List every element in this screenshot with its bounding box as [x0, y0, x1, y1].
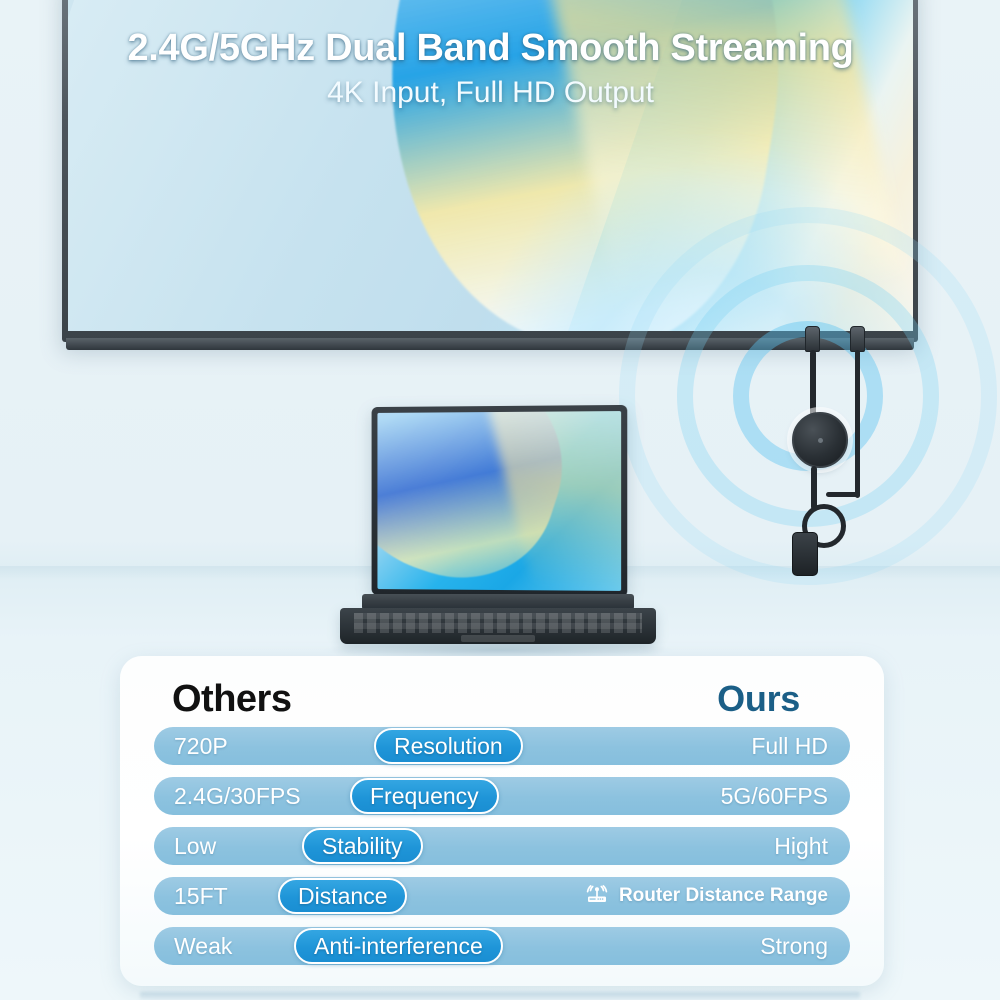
feature-label: Resolution	[394, 733, 503, 760]
feature-pill[interactable]: Distance	[278, 878, 407, 914]
others-value: 2.4G/30FPS	[154, 783, 301, 810]
feature-pill[interactable]: Frequency	[350, 778, 499, 814]
feature-label: Frequency	[370, 783, 479, 810]
ours-value-label: Hight	[774, 833, 828, 860]
others-value: Weak	[154, 933, 232, 960]
tablet-keyboard	[340, 608, 656, 644]
tv-text-block: 2.4G/5GHz Dual Band Smooth Streaming 4K …	[68, 27, 913, 110]
feature-label: Stability	[322, 833, 403, 860]
ours-value: 5G/60FPS	[721, 783, 850, 810]
ours-value: Hight	[774, 833, 850, 860]
column-header-ours: Ours	[717, 678, 836, 720]
ours-value-label: Strong	[760, 933, 828, 960]
hdmi-plug-icon	[805, 326, 820, 352]
ours-value: Strong	[760, 933, 850, 960]
comparison-header: Others Ours	[154, 678, 850, 721]
tablet-lid	[372, 405, 628, 597]
tv-screen: 2.4G/5GHz Dual Band Smooth Streaming 4K …	[68, 0, 913, 331]
tv-subline: 4K Input, Full HD Output	[68, 76, 913, 110]
ours-value-label: 5G/60FPS	[721, 783, 828, 810]
others-value: Low	[154, 833, 216, 860]
dongle-led-icon	[818, 438, 823, 443]
comparison-row: 720PResolutionFull HD	[154, 727, 850, 765]
feature-pill[interactable]: Resolution	[374, 728, 523, 764]
keyboard-trackpad	[461, 635, 535, 642]
comparison-rows: 720PResolutionFull HD2.4G/30FPSFrequency…	[154, 727, 850, 965]
cut-off-bottom-edge	[140, 992, 860, 1000]
usb-cable-bend	[826, 492, 860, 497]
television: 2.4G/5GHz Dual Band Smooth Streaming 4K …	[62, 0, 918, 342]
others-value: 15FT	[154, 883, 228, 910]
usb-cable	[855, 350, 860, 498]
feature-label: Anti-interference	[314, 933, 483, 960]
others-value: 720P	[154, 733, 228, 760]
tablet-screen	[377, 411, 621, 591]
feature-pill[interactable]: Stability	[302, 828, 423, 864]
ours-value: Full HD	[751, 733, 850, 760]
ours-value-label: Router Distance Range	[619, 885, 828, 907]
comparison-row: 2.4G/30FPSFrequency5G/60FPS	[154, 777, 850, 815]
dongle-tail-cable	[811, 466, 817, 510]
comparison-row: WeakAnti-interferenceStrong	[154, 927, 850, 965]
ours-value-label: Full HD	[751, 733, 828, 760]
usb-plug-head-icon	[850, 326, 865, 352]
feature-label: Distance	[298, 883, 387, 910]
column-header-others: Others	[172, 678, 291, 721]
feature-pill[interactable]: Anti-interference	[294, 928, 503, 964]
tv-wallpaper-bottom-glow	[457, 134, 913, 331]
usb-power-plug	[792, 532, 818, 576]
product-graphic: 2.4G/5GHz Dual Band Smooth Streaming 4K …	[0, 0, 1000, 1000]
comparison-row: 15FTDistanceRouter Distance Range	[154, 877, 850, 915]
wireless-hdmi-dongle	[780, 326, 900, 578]
dongle-body	[792, 412, 848, 468]
keyboard-keys	[354, 613, 642, 633]
tablet-with-keyboard	[336, 406, 660, 646]
comparison-row: LowStabilityHight	[154, 827, 850, 865]
ours-value: Router Distance Range	[584, 881, 850, 911]
comparison-card: Others Ours 720PResolutionFull HD2.4G/30…	[120, 656, 884, 986]
tv-headline: 2.4G/5GHz Dual Band Smooth Streaming	[68, 27, 913, 70]
tv-bezel: 2.4G/5GHz Dual Band Smooth Streaming 4K …	[62, 0, 918, 342]
wifi-router-icon	[584, 881, 610, 911]
